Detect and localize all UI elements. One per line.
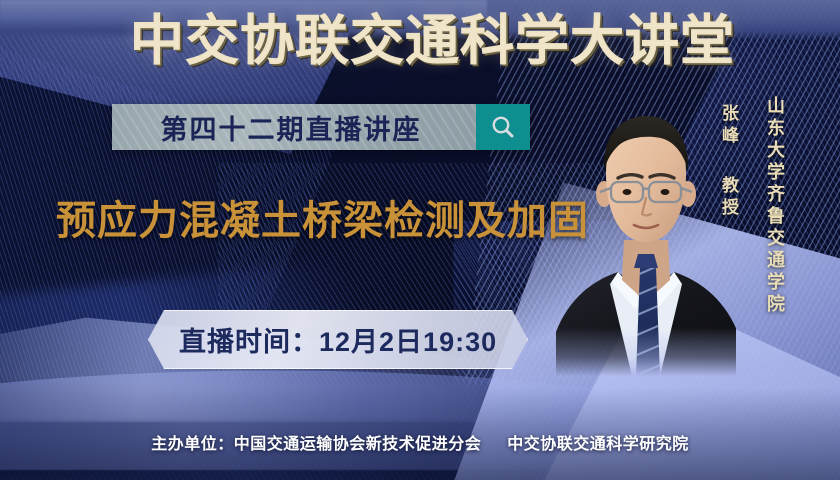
livestream-poster: 中交协联交通科学大讲堂 第四十二期直播讲座 预应力混凝土桥梁检测及加固 直播时间…	[0, 0, 840, 480]
lecture-topic: 预应力混凝土桥梁检测及加固	[56, 188, 589, 246]
episode-label: 第四十二期直播讲座	[112, 104, 476, 150]
broadcast-time-badge: 直播时间：12月2日19:30	[148, 310, 528, 369]
footer-org-1: 中国交通运输协会新技术促进分会	[234, 436, 482, 453]
search-icon-box[interactable]	[476, 104, 530, 150]
speaker-organization: 山东大学齐鲁交通学院	[762, 96, 788, 316]
episode-banner: 第四十二期直播讲座	[112, 104, 530, 150]
page-title: 中交协联交通科学大讲堂	[130, 14, 710, 68]
search-icon	[490, 114, 516, 140]
speaker-name: 张峰	[716, 104, 741, 148]
speaker-title: 教授	[716, 176, 741, 220]
footer-prefix: 主办单位：	[151, 436, 234, 453]
footer-org-2: 中交协联交通科学研究院	[507, 436, 689, 453]
footer-organizers: 主办单位：中国交通运输协会新技术促进分会中交协联交通科学研究院	[0, 430, 840, 454]
